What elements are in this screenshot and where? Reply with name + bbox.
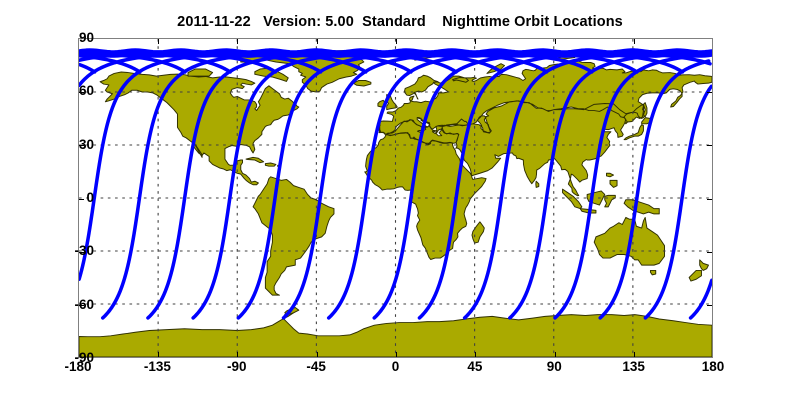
x-axis-tick-label: -135 — [127, 360, 187, 374]
orbit-track-descending — [374, 54, 536, 318]
orbit-track-descending — [645, 86, 711, 318]
orbit-track-descending — [284, 54, 446, 318]
orbit-track-descending — [103, 54, 265, 318]
y-tick-mark — [707, 145, 712, 146]
x-tick-mark — [634, 352, 635, 357]
x-axis-tick-label: -45 — [286, 360, 346, 374]
x-tick-mark — [317, 39, 318, 44]
orbit-track-descending — [148, 54, 310, 318]
x-tick-mark — [475, 39, 476, 44]
orbit-track-descending — [238, 54, 400, 318]
x-axis-tick-label: 180 — [683, 360, 743, 374]
y-tick-mark — [79, 199, 84, 200]
orbit-track-descending — [419, 54, 581, 318]
x-axis-tick-label: -90 — [207, 360, 267, 374]
chart-title: 2011-11-22 Version: 5.00 Standard Nightt… — [0, 14, 800, 30]
orbit-track-descending — [193, 54, 355, 318]
orbit-track-descending — [691, 280, 712, 318]
plot-area — [78, 38, 713, 358]
x-tick-mark — [237, 352, 238, 357]
x-tick-mark — [396, 352, 397, 357]
x-tick-mark — [158, 39, 159, 44]
y-tick-mark — [707, 305, 712, 306]
y-axis-tick-label: 30 — [79, 138, 94, 152]
y-tick-mark — [707, 199, 712, 200]
y-tick-mark — [707, 92, 712, 93]
orbit-track-descending — [600, 61, 709, 318]
x-axis-tick-label: 0 — [366, 360, 426, 374]
x-axis-tick-label: -180 — [48, 360, 108, 374]
x-tick-mark — [237, 39, 238, 44]
x-tick-mark — [396, 39, 397, 44]
x-axis-tick-label: 135 — [604, 360, 664, 374]
orbit-track-descending — [465, 54, 627, 318]
x-tick-mark — [555, 39, 556, 44]
x-axis-tick-label: 45 — [445, 360, 505, 374]
x-tick-mark — [555, 352, 556, 357]
orbit-track-descending — [79, 54, 219, 279]
y-tick-mark — [707, 252, 712, 253]
y-axis-tick-label: 0 — [86, 191, 94, 205]
orbit-map-figure: 2011-11-22 Version: 5.00 Standard Nightt… — [0, 0, 800, 400]
x-axis-tick-label: 90 — [524, 360, 584, 374]
x-tick-mark — [158, 352, 159, 357]
orbit-track-polar-band — [79, 50, 712, 52]
orbit-track-layer — [79, 39, 712, 357]
orbit-track-descending — [555, 55, 710, 318]
x-tick-mark — [317, 352, 318, 357]
y-axis-tick-label: -30 — [74, 244, 94, 258]
orbit-track-descending — [329, 54, 491, 318]
map-canvas — [79, 39, 712, 357]
x-tick-mark — [634, 39, 635, 44]
orbit-track-descending — [510, 54, 672, 318]
y-axis-tick-label: 60 — [79, 84, 94, 98]
orbit-track-ascending — [80, 65, 95, 72]
orbit-ground-tracks — [79, 50, 712, 318]
x-tick-mark — [475, 352, 476, 357]
y-axis-tick-label: -60 — [74, 298, 94, 312]
y-axis-tick-label: 90 — [79, 31, 94, 45]
